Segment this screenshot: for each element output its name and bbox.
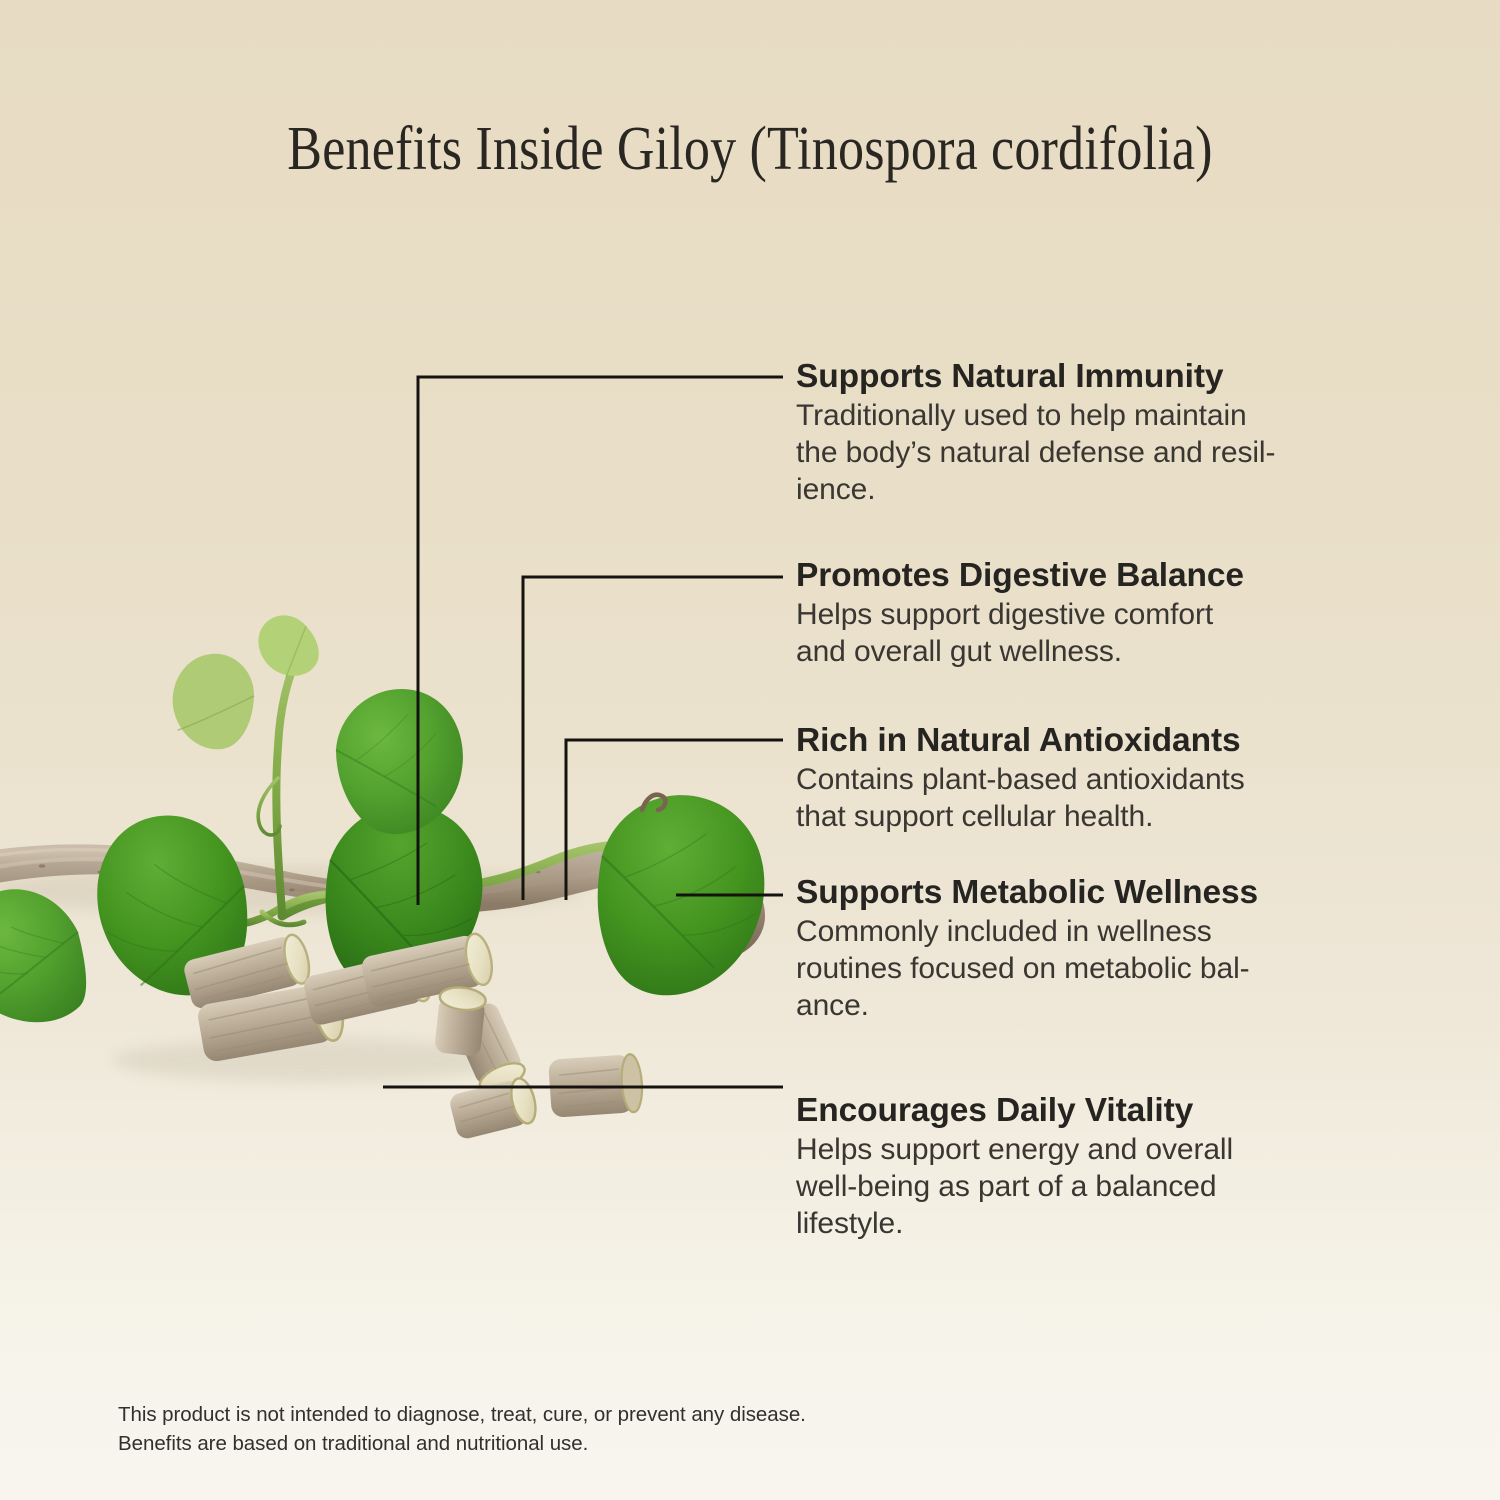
benefit-description: Commonly included in wellness routines f… — [796, 913, 1396, 1025]
benefit-description: Helps support digestive comfort and over… — [796, 596, 1396, 671]
leader-line-3 — [566, 740, 783, 900]
infographic-canvas: Benefits Inside Giloy (Tinospora cordifo… — [0, 0, 1500, 1500]
benefit-heading: Supports Metabolic Wellness — [796, 874, 1396, 912]
benefit-description: Traditionally used to help maintain the … — [796, 397, 1396, 509]
leader-line-1 — [418, 377, 783, 905]
benefit-description: Contains plant-based antioxidants that s… — [796, 761, 1396, 836]
benefit-item-4: Supports Metabolic Wellness Commonly inc… — [796, 874, 1396, 1025]
benefit-item-1: Supports Natural Immunity Traditionally … — [796, 358, 1396, 509]
benefit-heading: Encourages Daily Vitality — [796, 1092, 1396, 1130]
benefit-item-5: Encourages Daily Vitality Helps support … — [796, 1092, 1396, 1243]
disclaimer-text: This product is not intended to diagnose… — [118, 1400, 806, 1458]
benefit-item-2: Promotes Digestive Balance Helps support… — [796, 557, 1396, 670]
benefit-item-3: Rich in Natural Antioxidants Contains pl… — [796, 722, 1396, 835]
benefit-heading: Rich in Natural Antioxidants — [796, 722, 1396, 760]
benefit-description: Helps support energy and overall well-be… — [796, 1131, 1396, 1243]
benefit-heading: Supports Natural Immunity — [796, 358, 1396, 396]
benefit-heading: Promotes Digestive Balance — [796, 557, 1396, 595]
